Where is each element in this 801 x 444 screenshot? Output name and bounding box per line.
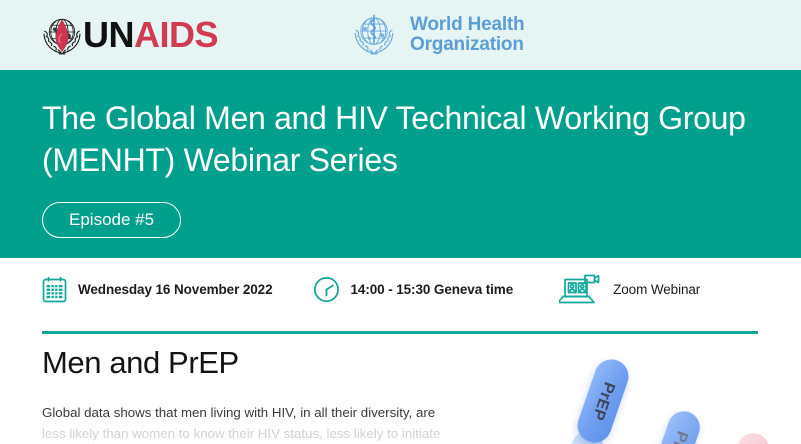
topic-description: Global data shows that men living with H… xyxy=(42,402,504,444)
banner-hero: The Global Men and HIV Technical Working… xyxy=(0,70,801,258)
episode-badge: Episode #5 xyxy=(42,202,181,238)
webinar-announcement-page: UNAIDS xyxy=(0,0,801,444)
event-time-text: 14:00 - 15:30 Geneva time xyxy=(351,282,514,297)
who-wordmark-line1: World Health xyxy=(410,15,524,35)
event-meta-strip: Wednesday 16 November 2022 14:00 - 15:30… xyxy=(0,258,801,320)
pill-primary: PrEP xyxy=(573,355,633,444)
who-emblem-icon xyxy=(348,10,400,60)
webinar-series-title: The Global Men and HIV Technical Working… xyxy=(42,98,759,181)
logo-header-bar: UNAIDS xyxy=(0,0,801,70)
event-platform-text: Zoom Webinar xyxy=(613,282,700,297)
who-logo: World Health Organization xyxy=(348,10,524,60)
pill-primary-label: PrEP xyxy=(588,379,618,422)
unaids-logo: UNAIDS xyxy=(38,11,218,59)
unaids-wordmark: UNAIDS xyxy=(83,17,218,53)
unaids-wordmark-aids: AIDS xyxy=(134,14,218,55)
unaids-emblem-icon xyxy=(38,11,86,59)
who-wordmark-line2: Organization xyxy=(410,35,524,55)
calendar-icon xyxy=(42,276,67,303)
prep-pills-illustration: PrEP PrEP xyxy=(548,332,801,444)
clock-icon xyxy=(313,276,340,303)
event-date-text: Wednesday 16 November 2022 xyxy=(78,282,273,297)
pill-pink xyxy=(719,429,774,444)
event-platform: Zoom Webinar xyxy=(559,273,700,306)
event-time: 14:00 - 15:30 Geneva time xyxy=(313,276,514,303)
event-date: Wednesday 16 November 2022 xyxy=(42,276,273,303)
topic-title: Men and PrEP xyxy=(42,346,522,381)
pill-secondary-label: PrEP xyxy=(661,428,691,444)
unaids-wordmark-un: UN xyxy=(83,14,134,55)
topic-description-line2: less likely than women to know their HIV… xyxy=(42,423,504,444)
pill-secondary: PrEP xyxy=(648,407,704,444)
who-wordmark: World Health Organization xyxy=(410,15,524,55)
video-webinar-icon xyxy=(559,273,601,306)
topic-section: Men and PrEP Global data shows that men … xyxy=(42,346,522,444)
topic-description-line1: Global data shows that men living with H… xyxy=(42,402,504,424)
